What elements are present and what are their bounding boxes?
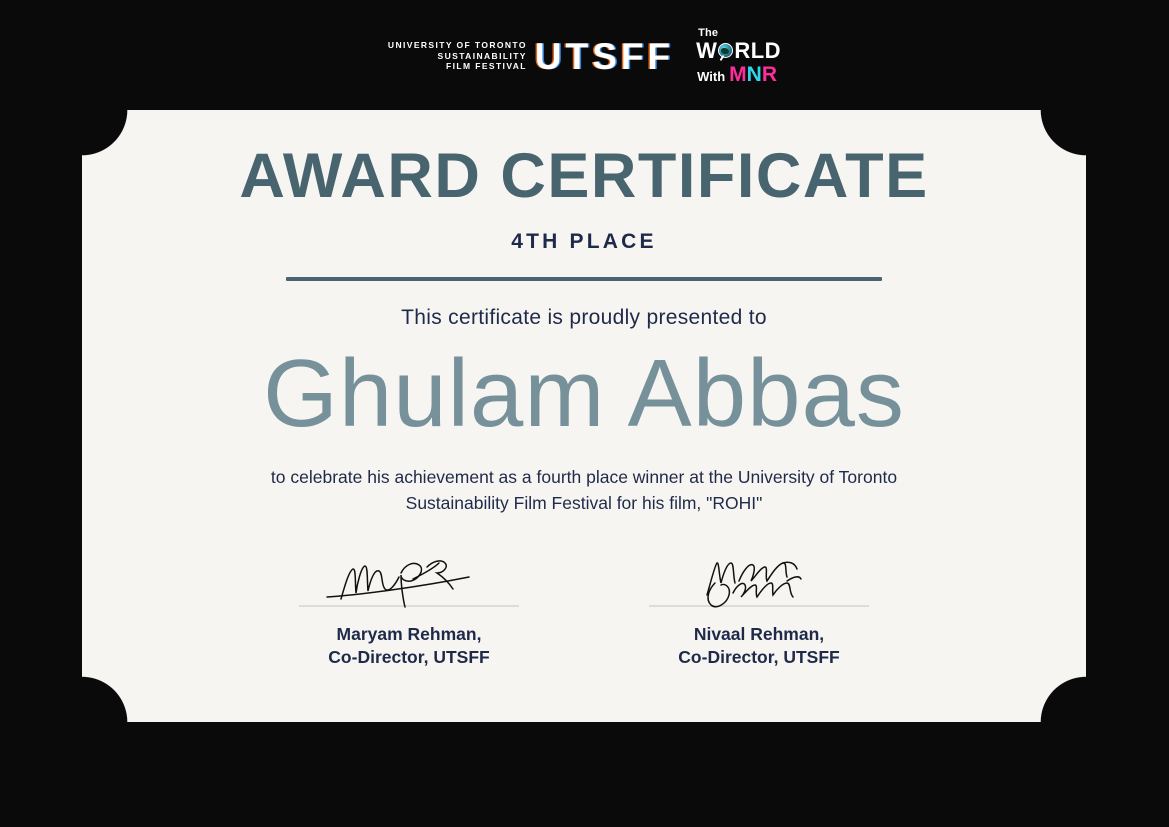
mnr-n-letter: N [747, 63, 762, 86]
signature-row: Maryam Rehman, Co-Director, UTSFF [82, 561, 1086, 670]
certificate-content: AWARD CERTIFICATE 4TH PLACE This certifi… [82, 110, 1086, 722]
page-title: AWARD CERTIFICATE [82, 110, 1086, 208]
citation-text: to celebrate his achievement as a fourth… [264, 446, 904, 517]
mnr-m-letter: M [729, 63, 747, 86]
utsff-line-1: UNIVERSITY OF TORONTO [388, 41, 527, 50]
utsff-wordmark: UTSFF [535, 38, 674, 75]
place-subtitle: 4TH PLACE [82, 208, 1086, 252]
mnr-rld-letters: RLD [734, 40, 781, 62]
mnr-letters: MNR [729, 64, 777, 85]
presented-line: This certificate is proudly presented to [82, 281, 1086, 328]
signature-name-nivaal: Nivaal Rehman, Co-Director, UTSFF [649, 607, 869, 670]
nivaal-rehman-signature [649, 561, 869, 605]
utsff-logo: UNIVERSITY OF TORONTO SUSTAINABILITY FIL… [388, 38, 674, 75]
mnr-w-letter: W [696, 40, 717, 62]
mnr-with-row: With MNR [697, 64, 777, 85]
globe-ball [718, 43, 733, 58]
utsff-line-3: FILM FESTIVAL [446, 62, 527, 71]
header-logo-strip: UNIVERSITY OF TORONTO SUSTAINABILITY FIL… [0, 25, 1169, 87]
the-world-with-mnr-logo: The W RLD With MNR [696, 27, 781, 85]
utsff-line-2: SUSTAINABILITY [438, 52, 527, 61]
signature-block-maryam: Maryam Rehman, Co-Director, UTSFF [299, 561, 519, 670]
mnr-world-row: W RLD [696, 40, 781, 62]
utsff-logo-subtext: UNIVERSITY OF TORONTO SUSTAINABILITY FIL… [388, 41, 527, 71]
mnr-r-letter: R [762, 63, 777, 86]
globe-magnifier-icon [717, 43, 734, 60]
signature-block-nivaal: Nivaal Rehman, Co-Director, UTSFF [649, 561, 869, 670]
certificate-card: AWARD CERTIFICATE 4TH PLACE This certifi… [82, 110, 1086, 722]
recipient-name: Ghulam Abbas [82, 328, 1086, 446]
mnr-with-text: With [697, 70, 725, 83]
maryam-rehman-signature [299, 561, 519, 605]
signature-name-maryam: Maryam Rehman, Co-Director, UTSFF [299, 607, 519, 670]
